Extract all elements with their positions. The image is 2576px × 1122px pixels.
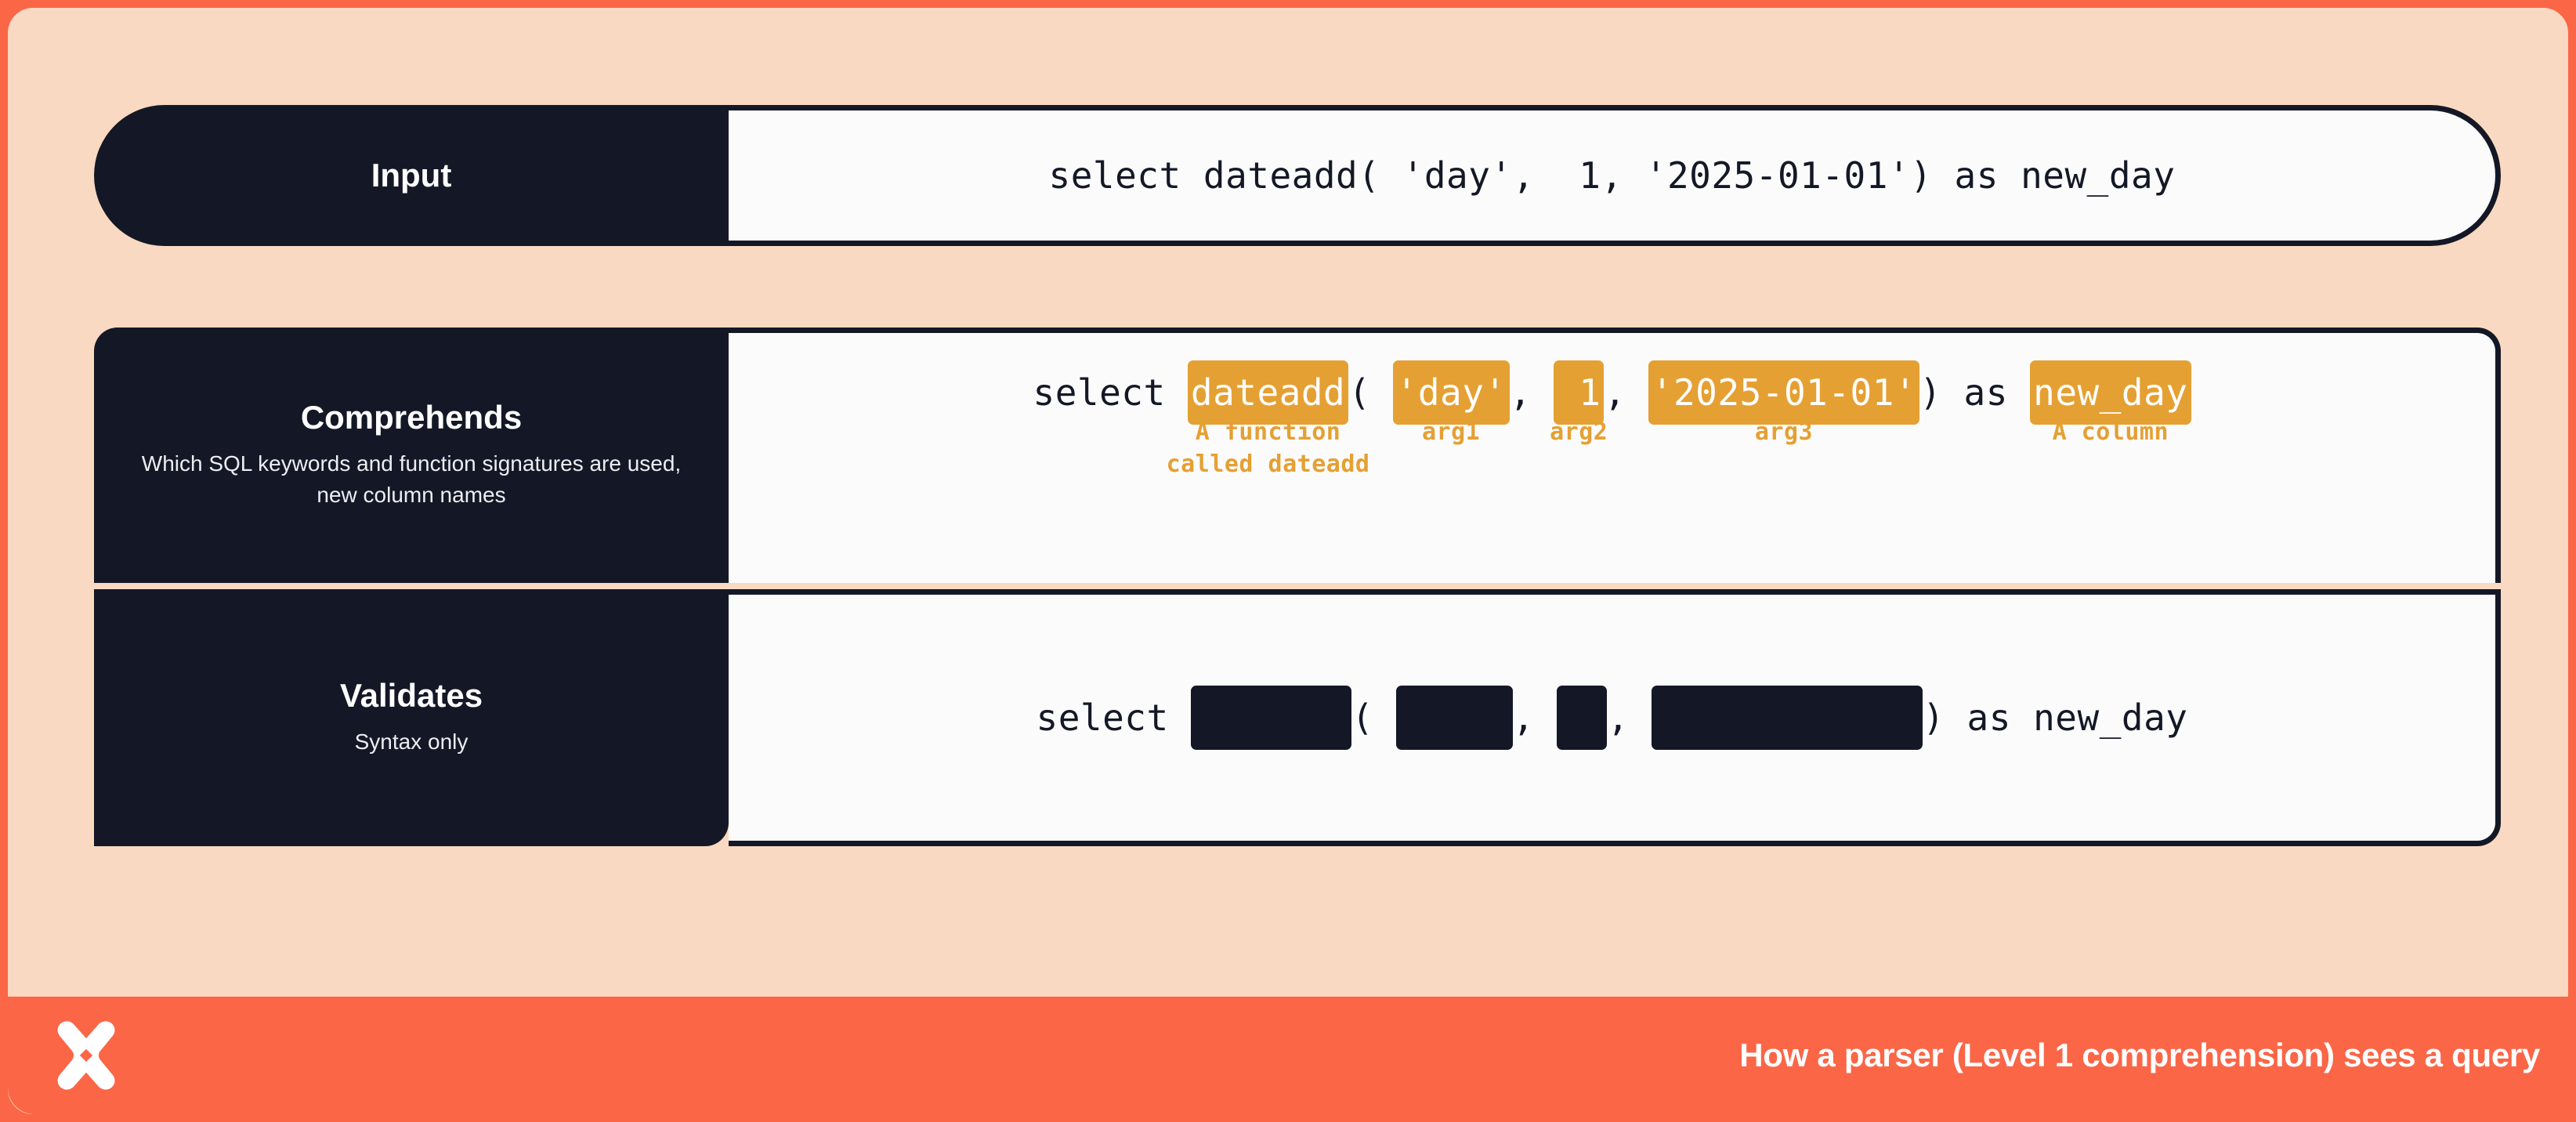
code-token-redact: 1 — [1557, 686, 1607, 750]
code-token-highlight: 1arg2 — [1554, 360, 1604, 425]
comprehends-label-cell: Comprehends Which SQL keywords and funct… — [94, 328, 729, 583]
input-row-code: select dateadd( 'day', 1, '2025-01-01') … — [729, 105, 2501, 246]
code-token-plain: , — [1607, 697, 1651, 739]
code-token-highlight: new_dayA column — [2030, 360, 2191, 425]
footer-bar: How a parser (Level 1 comprehension) see… — [8, 997, 2576, 1114]
validates-code-line: select dateadd( 'day', 1, '2025-01-01') … — [729, 595, 2495, 841]
code-token-plain: select — [1033, 371, 1188, 414]
token-annotation: A column — [2053, 417, 2169, 449]
validates-row: Validates Syntax only select dateadd( 'd… — [94, 589, 2501, 846]
token-annotation: arg2 — [1550, 417, 1608, 449]
validates-title: Validates — [340, 678, 483, 714]
x-mark-icon — [49, 1018, 124, 1093]
comprehends-code-cell: select dateaddA function called dateadd(… — [729, 328, 2501, 583]
code-token-plain: select — [1037, 697, 1191, 739]
input-row-code-text: select dateadd( 'day', 1, '2025-01-01') … — [1049, 154, 2176, 197]
code-token-plain: ( — [1348, 371, 1392, 414]
validates-code-cell: select dateadd( 'day', 1, '2025-01-01') … — [729, 589, 2501, 846]
code-token-plain: ) as — [1919, 371, 2030, 414]
code-token-highlight: dateaddA function called dateadd — [1188, 360, 1348, 425]
comparison-card: Comprehends Which SQL keywords and funct… — [94, 328, 2501, 846]
code-token-plain: ) as new_day — [1923, 697, 2187, 739]
code-token-highlight: 'day'arg1 — [1393, 360, 1510, 425]
code-token-plain: , — [1510, 371, 1554, 414]
code-token-redact: dateadd — [1191, 686, 1351, 750]
code-token-plain: ( — [1351, 697, 1395, 739]
token-annotation: arg3 — [1755, 417, 1813, 449]
code-token-plain: , — [1604, 371, 1648, 414]
validates-label-cell: Validates Syntax only — [94, 589, 729, 846]
code-token-redact: 'day' — [1396, 686, 1513, 750]
comprehends-row: Comprehends Which SQL keywords and funct… — [94, 328, 2501, 583]
code-token-plain: , — [1513, 697, 1557, 739]
input-row: Input select dateadd( 'day', 1, '2025-01… — [94, 105, 2501, 246]
footer-caption: How a parser (Level 1 comprehension) see… — [1739, 1037, 2540, 1074]
code-token-highlight: '2025-01-01'arg3 — [1648, 360, 1919, 425]
comprehends-code-line: select dateaddA function called dateadd(… — [729, 357, 2495, 429]
token-annotation: A function called dateadd — [1167, 417, 1370, 480]
input-row-label: Input — [94, 105, 729, 246]
code-token-redact: '2025-01-01' — [1652, 686, 1923, 750]
comprehends-title: Comprehends — [301, 400, 522, 436]
poster-frame: Input select dateadd( 'day', 1, '2025-01… — [0, 0, 2576, 1122]
input-row-label-text: Input — [371, 157, 452, 194]
comprehends-subtitle: Which SQL keywords and function signatur… — [121, 448, 702, 511]
token-annotation: arg1 — [1422, 417, 1480, 449]
brand-logo — [49, 1018, 124, 1093]
validates-subtitle: Syntax only — [355, 726, 469, 758]
